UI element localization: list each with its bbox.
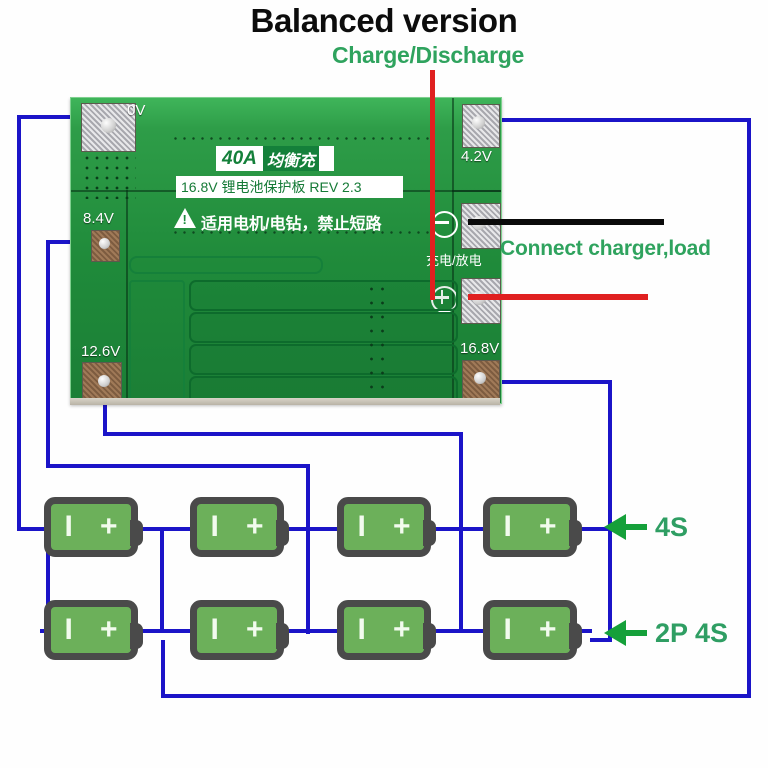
pad-0v-hole <box>101 118 116 133</box>
cell-negative-symbol: I <box>504 615 512 645</box>
cell-positive-symbol: + <box>100 512 118 542</box>
cell-positive-symbol: + <box>246 512 264 542</box>
silk-model-line: 16.8V 锂电池保护板 REV 2.3 <box>176 176 403 198</box>
pcb-slot-1 <box>189 280 458 311</box>
silk-current-rating-value: 40A <box>222 148 257 170</box>
wire-8v4-bus <box>46 464 310 468</box>
battery-cell[interactable]: I + <box>337 497 431 557</box>
tap-label-0v: 0V <box>127 102 145 119</box>
cell-negative-symbol: I <box>65 615 73 645</box>
wire-0v-vertical <box>17 115 21 531</box>
cell-positive-symbol: + <box>393 512 411 542</box>
pad-4v2-hole <box>472 116 485 129</box>
arrow-4s-icon <box>604 514 626 540</box>
cell-negative-symbol: I <box>211 512 219 542</box>
silk-balance-badge: 均衡充 <box>263 146 319 171</box>
lead-black-negative <box>468 219 664 225</box>
lead-red-positive <box>468 294 648 300</box>
pad-12v6-hole <box>98 375 110 387</box>
cell-negative-symbol: I <box>504 512 512 542</box>
cell-terminal-nub <box>276 520 289 546</box>
battery-cell[interactable]: I + <box>44 497 138 557</box>
pad-16v8-hole <box>474 372 486 384</box>
wire-12v6-bus <box>103 432 463 436</box>
wire-parallel-link-3 <box>459 527 463 631</box>
lead-red-vertical <box>430 70 435 300</box>
arrow-4s-tail <box>625 524 647 530</box>
cell-terminal-nub <box>423 623 436 649</box>
tap-label-12v6: 12.6V <box>81 343 120 360</box>
via-grid-slots <box>366 282 392 400</box>
cell-terminal-nub <box>276 623 289 649</box>
wire-parallel-link-2 <box>306 527 310 631</box>
battery-cell[interactable]: I + <box>483 497 577 557</box>
wire-4v2-bottom-bus <box>161 694 751 698</box>
battery-cell[interactable]: I + <box>190 600 284 660</box>
silk-model-line-text: 16.8V 锂电池保护板 REV 2.3 <box>181 177 362 197</box>
pack-label-4s: 4S <box>655 512 688 543</box>
cell-terminal-nub <box>423 520 436 546</box>
cell-terminal-nub <box>130 520 143 546</box>
cell-positive-symbol: + <box>539 615 557 645</box>
silk-current-rating: 40A 均衡充 <box>216 146 334 171</box>
battery-cell[interactable]: I + <box>44 600 138 660</box>
wire-8v4-vertical <box>46 240 50 468</box>
cell-negative-symbol: I <box>358 615 366 645</box>
pcb-slot-3 <box>189 344 458 375</box>
cell-positive-symbol: + <box>100 615 118 645</box>
wire-4v2-up-to-row2 <box>161 640 165 698</box>
silk-warning-line: 适用电机/电钻，禁止短路 <box>201 210 381 234</box>
arrow-2p4s-tail <box>625 630 647 636</box>
wire-4v2-horizontal <box>476 118 751 122</box>
pcb-trace-upper <box>129 256 323 274</box>
pcb-split-line-vertical <box>126 190 128 403</box>
cell-negative-symbol: I <box>358 512 366 542</box>
pad-8v4-hole <box>99 238 110 249</box>
pcb-slot-2 <box>189 312 458 343</box>
arrow-2p4s-icon <box>604 620 626 646</box>
tap-label-4v2: 4.2V <box>461 148 492 165</box>
negative-terminal-icon <box>431 211 458 238</box>
wire-parallel-link-1 <box>160 527 164 631</box>
pcb-bottom-edge <box>70 398 500 405</box>
cell-negative-symbol: I <box>65 512 73 542</box>
pcb-split-line-right-h <box>452 190 501 192</box>
cell-negative-symbol: I <box>211 615 219 645</box>
pcb-trace-left-rail <box>129 280 185 405</box>
battery-cell[interactable]: I + <box>337 600 431 660</box>
wiring-diagram-canvas: Balanced version Charge/Discharge <box>0 0 768 768</box>
cell-terminal-nub <box>130 623 143 649</box>
via-grid-left <box>82 153 136 199</box>
connect-charger-load-label: Connect charger,load <box>500 237 711 261</box>
cell-terminal-nub <box>569 623 582 649</box>
cell-positive-symbol: + <box>246 615 264 645</box>
charge-discharge-label: Charge/Discharge <box>332 42 524 69</box>
battery-cell[interactable]: I + <box>483 600 577 660</box>
cell-terminal-nub <box>569 520 582 546</box>
wire-4v2-vertical <box>747 118 751 698</box>
page-title: Balanced version <box>0 2 768 40</box>
via-row-top <box>171 134 433 143</box>
pack-label-2p4s: 2P 4S <box>655 618 728 649</box>
cell-positive-symbol: + <box>539 512 557 542</box>
tap-label-16v8: 16.8V <box>460 340 499 357</box>
warning-triangle-icon <box>174 208 196 228</box>
battery-cell[interactable]: I + <box>190 497 284 557</box>
cell-positive-symbol: + <box>393 615 411 645</box>
tap-label-8v4: 8.4V <box>83 210 114 227</box>
bms-protection-board: 0V 4.2V 8.4V 12.6V 16.8V 充电/放电 <box>70 97 502 404</box>
